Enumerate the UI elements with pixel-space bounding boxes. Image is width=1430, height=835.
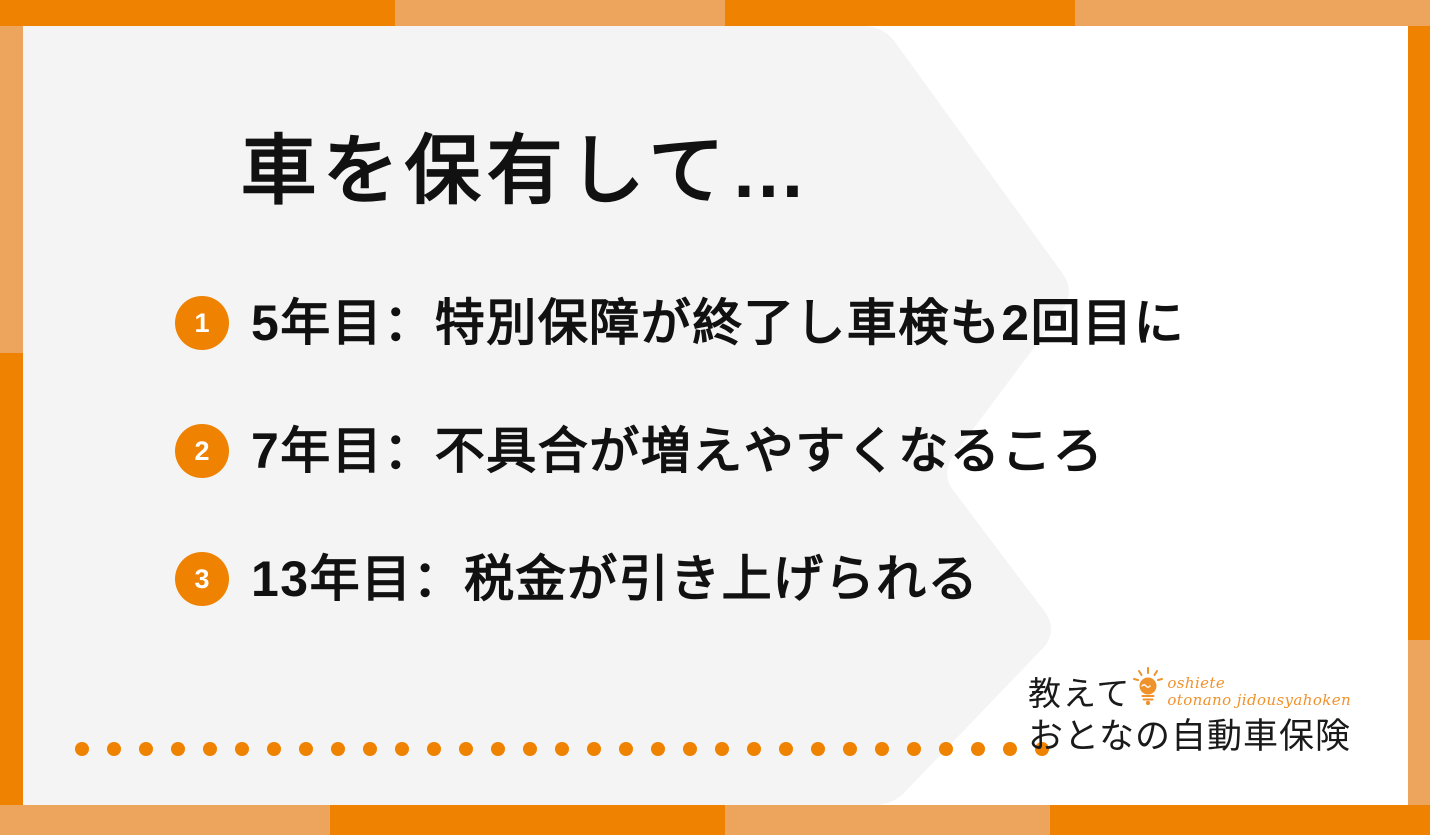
divider-dot: [203, 742, 217, 756]
list-item: 3 13年目：税金が引き上げられる: [175, 540, 1405, 618]
list-item: 2 7年目：不具合が増えやすくなるころ: [175, 412, 1405, 490]
divider-dot: [939, 742, 953, 756]
frame-bar-bottom-1: [0, 805, 330, 835]
list-item-number-badge: 3: [175, 552, 229, 606]
divider-dot: [907, 742, 921, 756]
frame-bar-left-2: [0, 353, 23, 805]
divider-dot: [747, 742, 761, 756]
brand-logo-bottom-row: おとなの自動車保険: [1028, 720, 1388, 755]
divider-dot: [651, 742, 665, 756]
divider-dot: [875, 742, 889, 756]
frame-bar-top-4: [1075, 0, 1430, 26]
frame-bar-left-1: [0, 26, 23, 353]
frame-bar-bottom-3: [725, 805, 1050, 835]
divider-dot: [683, 742, 697, 756]
divider-dot: [971, 742, 985, 756]
divider-dot: [267, 742, 281, 756]
divider-dot: [491, 742, 505, 756]
divider-dot: [1003, 742, 1017, 756]
divider-dot: [779, 742, 793, 756]
divider-dot: [107, 742, 121, 756]
divider-dot: [395, 742, 409, 756]
brand-logo: 教えて: [1028, 664, 1388, 755]
divider-dot: [555, 742, 569, 756]
list-item: 1 5年目：特別保障が終了し車検も2回目に: [175, 284, 1405, 362]
points-list: 1 5年目：特別保障が終了し車検も2回目に 2 7年目：不具合が増えやすくなるこ…: [175, 284, 1405, 668]
list-item-number-badge: 1: [175, 296, 229, 350]
brand-logo-romaji-line-1: oshiete: [1167, 674, 1225, 692]
divider-dot: [171, 742, 185, 756]
frame-bar-right-1: [1408, 26, 1430, 640]
dotted-divider: [75, 742, 1049, 756]
slide: 車を保有して… 1 5年目：特別保障が終了し車検も2回目に 2 7年目：不具合が…: [0, 0, 1430, 835]
divider-dot: [363, 742, 377, 756]
divider-dot: [331, 742, 345, 756]
page-title: 車を保有して…: [23, 134, 1030, 210]
divider-dot: [75, 742, 89, 756]
frame-bar-top-3: [725, 0, 1075, 26]
divider-dot: [843, 742, 857, 756]
divider-dot: [139, 742, 153, 756]
frame-bar-top-1: [0, 0, 395, 26]
divider-dot: [811, 742, 825, 756]
divider-dot: [619, 742, 633, 756]
frame-bar-bottom-2: [330, 805, 725, 835]
frame-bar-bottom-4: [1050, 805, 1430, 835]
list-item-label: 5年目：特別保障が終了し車検も2回目に: [251, 298, 1185, 348]
brand-logo-oshiete-text: 教えて: [1028, 677, 1131, 710]
divider-dot: [523, 742, 537, 756]
divider-dot: [715, 742, 729, 756]
list-item-label: 7年目：不具合が増えやすくなるころ: [251, 426, 1104, 476]
divider-dot: [427, 742, 441, 756]
divider-dot: [459, 742, 473, 756]
list-item-number-badge: 2: [175, 424, 229, 478]
divider-dot: [587, 742, 601, 756]
divider-dot: [299, 742, 313, 756]
lightbulb-icon: [1133, 667, 1163, 710]
frame-bar-right-2: [1408, 640, 1430, 805]
divider-dot: [235, 742, 249, 756]
content-panel: 車を保有して… 1 5年目：特別保障が終了し車検も2回目に 2 7年目：不具合が…: [23, 26, 1408, 805]
brand-logo-romaji-line-2: otonano jidousyahoken: [1167, 691, 1351, 709]
list-item-label: 13年目：税金が引き上げられる: [251, 554, 979, 604]
brand-logo-top-row: 教えて: [1028, 664, 1388, 710]
frame-bar-top-2: [395, 0, 725, 26]
brand-logo-romaji: oshiete otonano jidousyahoken: [1167, 675, 1351, 710]
